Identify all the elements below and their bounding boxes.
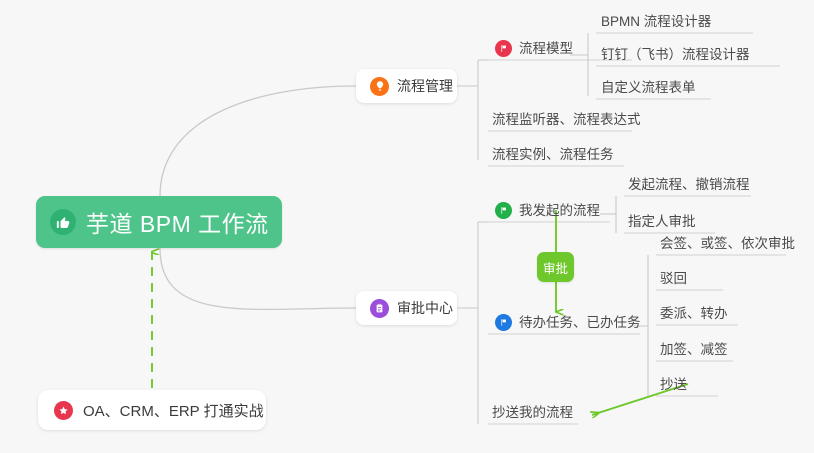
branch-node-approval-center[interactable]: 审批中心	[356, 291, 457, 325]
star-icon	[54, 401, 73, 420]
clipboard-icon	[370, 299, 389, 318]
node-label-countersign-orsign-sequential: 会签、或签、依次审批	[660, 235, 795, 253]
node-label-delegate-transfer: 委派、转办	[660, 305, 728, 323]
lightbulb-icon	[370, 77, 389, 96]
root-label: 芋道 BPM 工作流	[86, 205, 269, 239]
node-label-designated-approver: 指定人审批	[628, 213, 696, 231]
node-label-bpmn-designer: BPMN 流程设计器	[601, 13, 711, 31]
node-dingtalk-feishu-designer[interactable]: 钉钉（飞书）流程设计器	[601, 42, 750, 66]
branch-label-approval-center: 审批中心	[397, 298, 453, 318]
node-reject[interactable]: 驳回	[660, 266, 687, 290]
node-delegate-transfer[interactable]: 委派、转办	[660, 301, 728, 325]
node-countersign-orsign-sequential[interactable]: 会签、或签、依次审批	[660, 231, 795, 255]
flag-icon	[495, 202, 512, 219]
node-bpmn-designer[interactable]: BPMN 流程设计器	[601, 9, 711, 33]
node-todo-done-tasks[interactable]: 待办任务、已办任务	[495, 310, 641, 334]
branch-label-process-management: 流程管理	[397, 76, 453, 96]
node-cc[interactable]: 抄送	[660, 372, 687, 396]
node-process-instance-task[interactable]: 流程实例、流程任务	[492, 142, 614, 166]
node-add-remove-sign[interactable]: 加签、减签	[660, 337, 728, 361]
node-label-process-instance-task: 流程实例、流程任务	[492, 146, 614, 164]
node-label-start-cancel-process: 发起流程、撤销流程	[628, 176, 750, 194]
approve-badge[interactable]: 审批	[537, 252, 574, 282]
node-label-process-listener-expression: 流程监听器、流程表达式	[492, 111, 641, 129]
thumbs-up-icon	[50, 209, 76, 235]
root-node[interactable]: 芋道 BPM 工作流	[36, 196, 282, 248]
flag-icon	[495, 314, 512, 331]
node-label-dingtalk-feishu-designer: 钉钉（飞书）流程设计器	[601, 46, 750, 64]
node-label-cc: 抄送	[660, 376, 687, 394]
node-custom-process-form[interactable]: 自定义流程表单	[601, 75, 696, 99]
callout-node-oa-crm-erp[interactable]: OA、CRM、ERP 打通实战	[38, 390, 266, 430]
node-cc-to-me-process[interactable]: 抄送我的流程	[492, 400, 573, 424]
node-label-reject: 驳回	[660, 270, 687, 288]
node-process-listener-expression[interactable]: 流程监听器、流程表达式	[492, 107, 641, 131]
node-label-todo-done-tasks: 待办任务、已办任务	[519, 314, 641, 332]
node-start-cancel-process[interactable]: 发起流程、撤销流程	[628, 172, 750, 196]
node-label-add-remove-sign: 加签、减签	[660, 341, 728, 359]
node-my-initiated-process[interactable]: 我发起的流程	[495, 198, 600, 222]
mindmap-canvas: 芋道 BPM 工作流 流程管理 审批中心 流程模型	[0, 0, 814, 453]
node-designated-approver[interactable]: 指定人审批	[628, 209, 696, 233]
node-label-custom-process-form: 自定义流程表单	[601, 79, 696, 97]
node-label-my-initiated-process: 我发起的流程	[519, 202, 600, 220]
node-label-cc-to-me-process: 抄送我的流程	[492, 404, 573, 422]
approve-badge-label: 审批	[543, 258, 568, 277]
branch-node-process-management[interactable]: 流程管理	[356, 69, 457, 103]
node-label-process-model: 流程模型	[519, 40, 573, 58]
node-process-model[interactable]: 流程模型	[495, 36, 573, 60]
flag-icon	[495, 40, 512, 57]
callout-label: OA、CRM、ERP 打通实战	[83, 400, 264, 421]
